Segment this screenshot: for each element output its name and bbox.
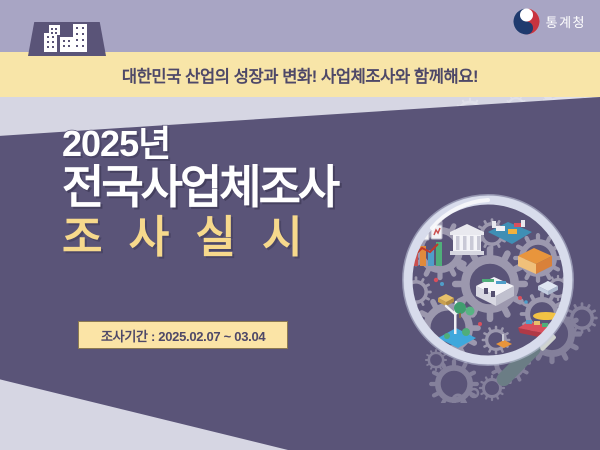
headline-title: 전국사업체조사	[62, 164, 337, 211]
tagline-band: 대한민국 산업의 성장과 변화! 사업체조사와 함께해요!	[0, 52, 600, 97]
taeguk-emblem-icon	[513, 8, 540, 35]
tagline-text: 대한민국 산업의 성장과 변화! 사업체조사와 함께해요!	[122, 63, 478, 87]
survey-period-badge: 조사기간 : 2025.02.07 ~ 03.04	[78, 321, 288, 349]
headline-year: 2025년	[62, 126, 337, 162]
headline-subtitle: 조 사 실 시	[62, 215, 337, 261]
agency-logo-label: 통계청	[546, 12, 586, 31]
buildings-icon	[28, 22, 106, 56]
survey-period-text: 조사기간 : 2025.02.07 ~ 03.04	[101, 326, 265, 345]
agency-logo: 통계청	[513, 8, 586, 35]
poster-canvas: 통계청 대한민국 산업의 성장과 변화! 사업체조사와 함께해요!	[0, 0, 600, 450]
headline-group: 2025년 전국사업체조사 조 사 실 시	[62, 126, 337, 261]
